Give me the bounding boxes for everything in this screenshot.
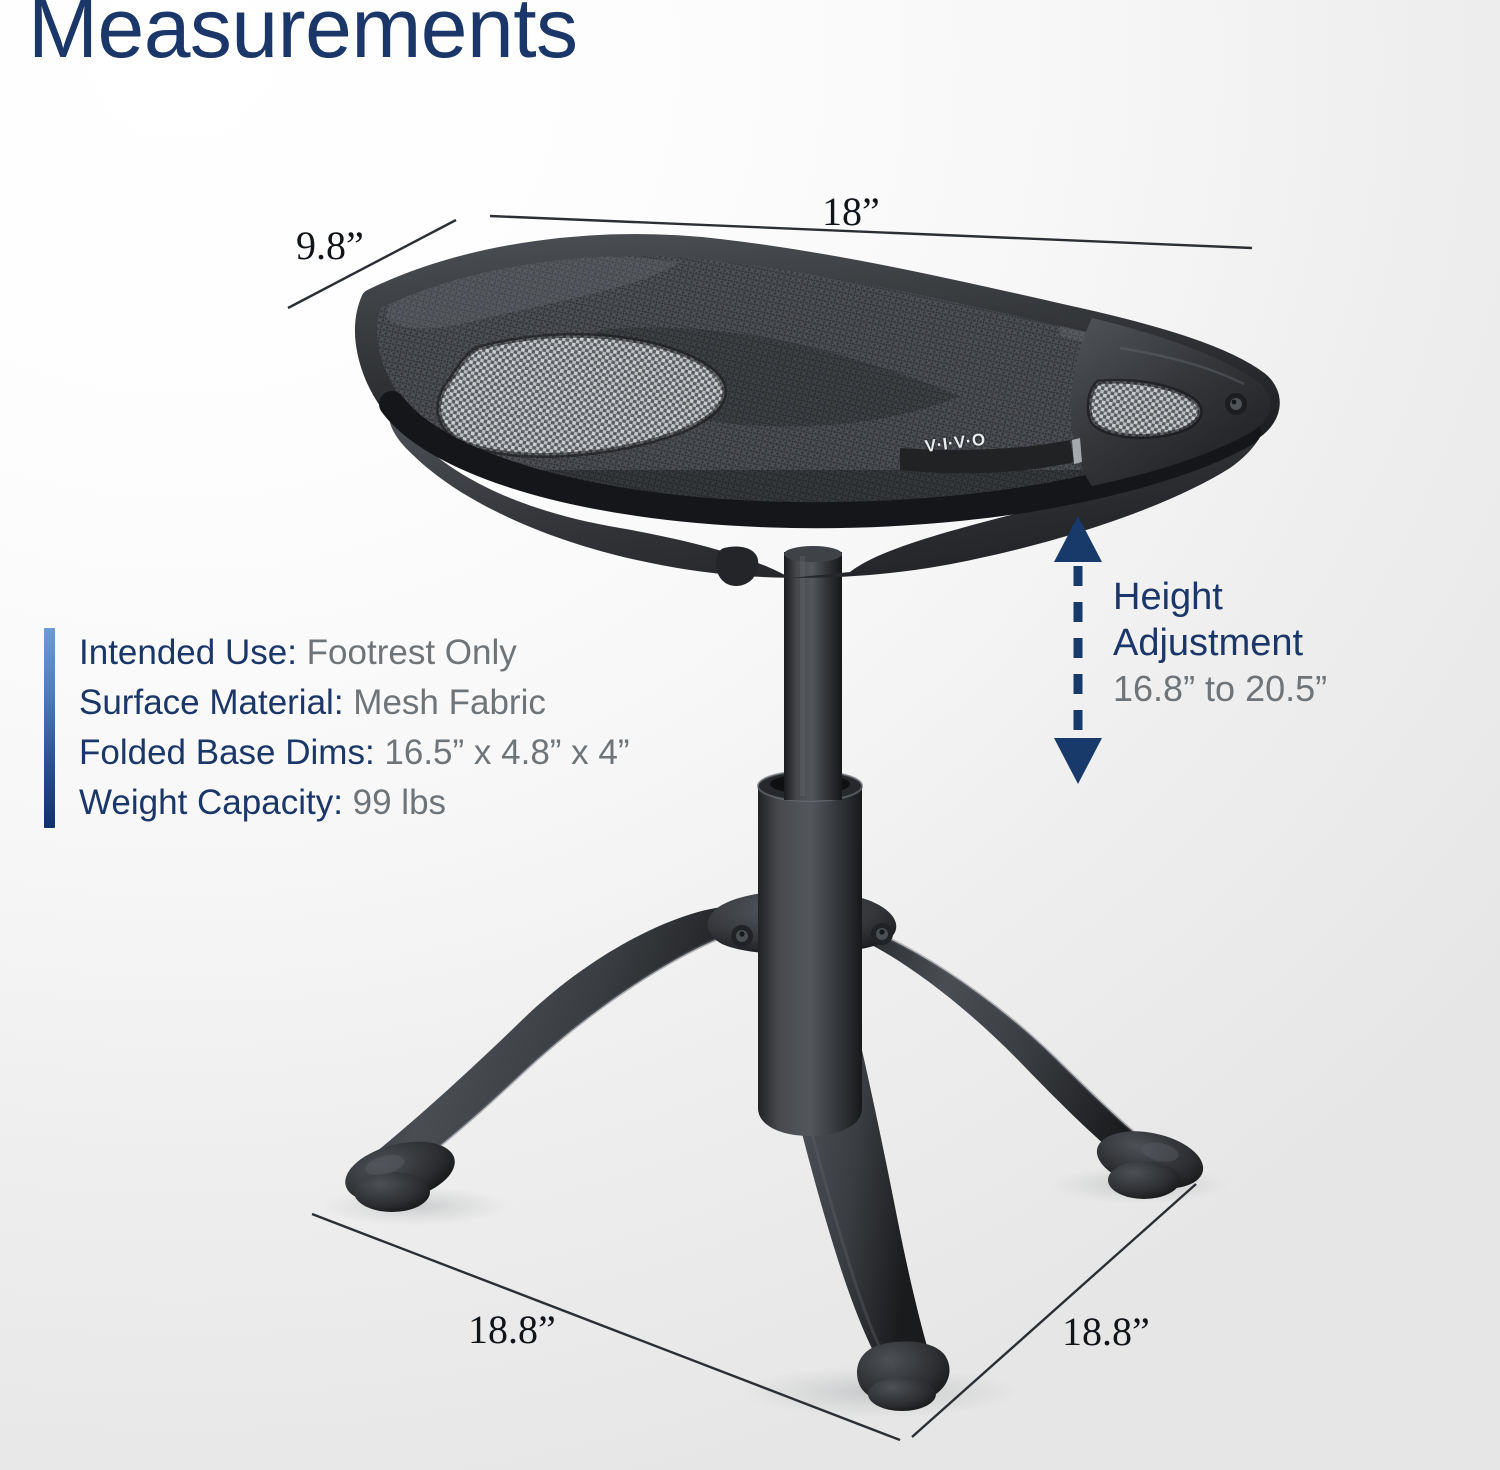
height-adjustment-range: 16.8” to 20.5” xyxy=(1113,666,1327,712)
spec-list: Intended Use: Footrest Only Surface Mate… xyxy=(79,628,630,828)
specifications-block: Intended Use: Footrest Only Surface Mate… xyxy=(44,628,630,828)
spec-row: Intended Use: Footrest Only xyxy=(79,628,630,678)
spec-value: 16.5” x 4.8” x 4” xyxy=(384,733,629,772)
spec-label: Surface Material: xyxy=(79,683,344,722)
dimension-label-seat-width: 18” xyxy=(822,192,880,232)
spec-value: 99 lbs xyxy=(353,783,446,822)
spec-row: Surface Material: Mesh Fabric xyxy=(79,678,630,728)
spec-label: Intended Use: xyxy=(79,633,297,672)
spec-accent-bar xyxy=(44,628,55,828)
spec-label: Folded Base Dims: xyxy=(79,733,375,772)
dimension-label-base-left: 18.8” xyxy=(468,1310,556,1350)
column-outer-sleeve xyxy=(758,771,862,1136)
height-adjustment-callout: Height Adjustment 16.8” to 20.5” xyxy=(1113,574,1327,712)
dimension-label-base-right: 18.8” xyxy=(1062,1312,1150,1352)
height-adjustment-line1: Height xyxy=(1113,574,1327,620)
measurements-infographic: V·I·V·O Measurements 18” 9.8” 18.8” 18.8… xyxy=(0,0,1500,1470)
page-title: Measurements xyxy=(28,0,578,70)
spec-value: Mesh Fabric xyxy=(353,683,546,722)
footrest-seat xyxy=(360,245,1275,586)
column-inner-tube xyxy=(784,546,842,800)
height-adjustment-line2: Adjustment xyxy=(1113,620,1327,666)
dimension-label-seat-depth: 9.8” xyxy=(296,226,364,266)
height-release-lever xyxy=(716,547,758,587)
spec-value: Footrest Only xyxy=(307,633,517,672)
spec-label: Weight Capacity: xyxy=(79,783,343,822)
spec-row: Weight Capacity: 99 lbs xyxy=(79,778,630,828)
seat-right-cap xyxy=(1071,318,1271,486)
spec-row: Folded Base Dims: 16.5” x 4.8” x 4” xyxy=(79,728,630,778)
